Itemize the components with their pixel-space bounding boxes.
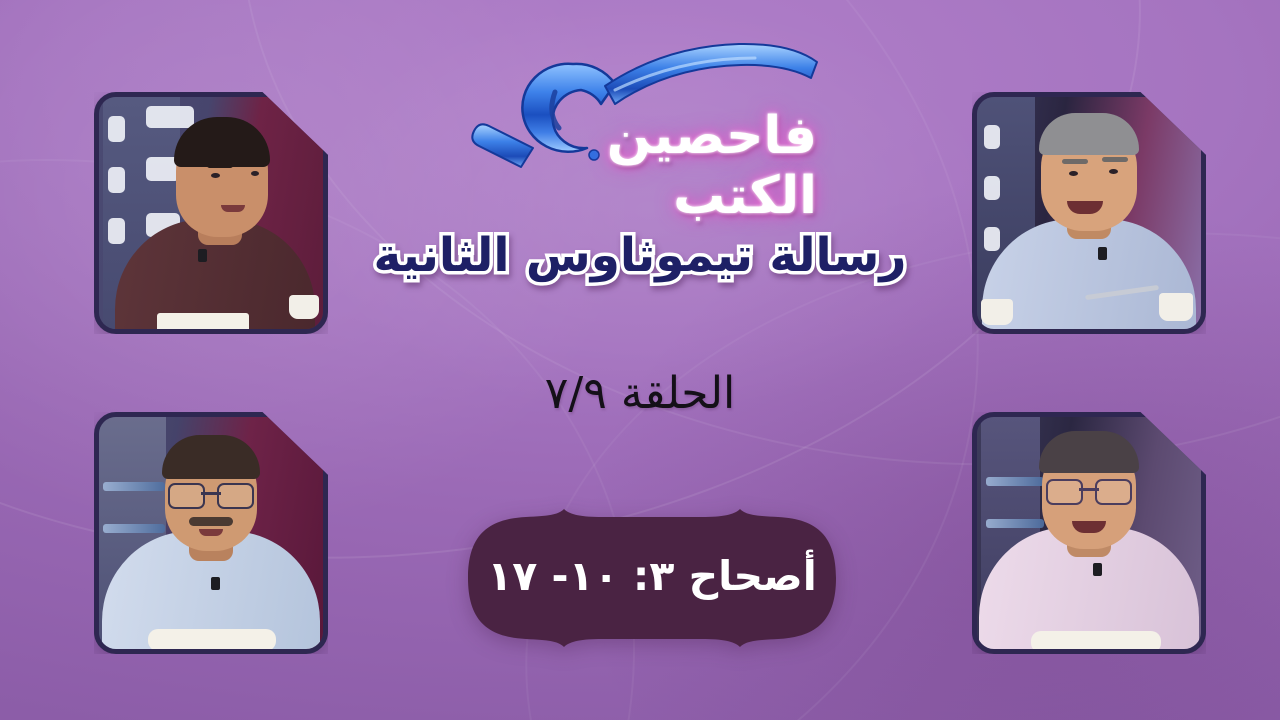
scripture-reference-text: أصحاح ٣: ١٠- ١٧ [452, 503, 852, 653]
episode-label: الحلقة ٧/٩ [0, 368, 1280, 419]
scripture-reference-badge: أصحاح ٣: ١٠- ١٧ [452, 503, 852, 653]
program-logo: فاحصين الكتب [455, 28, 825, 183]
panelist-photo-bottom-left [94, 412, 328, 654]
panelist-top-left-still [99, 97, 323, 329]
panelist-photo-top-right [972, 92, 1206, 334]
panelist-photo-bottom-right [972, 412, 1206, 654]
page-title: رسالة تيموثاوس الثانية [0, 228, 1280, 283]
panelist-figure [99, 97, 323, 329]
title-card-stage: فاحصين الكتب رسالة تيموثاوس الثانية الحل… [0, 0, 1280, 720]
program-logo-word: فاحصين الكتب [455, 106, 817, 226]
panelist-bottom-right-still [977, 417, 1201, 649]
panelist-bottom-left-still [99, 417, 323, 649]
panelist-photo-top-left [94, 92, 328, 334]
panelist-top-right-still [977, 97, 1201, 329]
